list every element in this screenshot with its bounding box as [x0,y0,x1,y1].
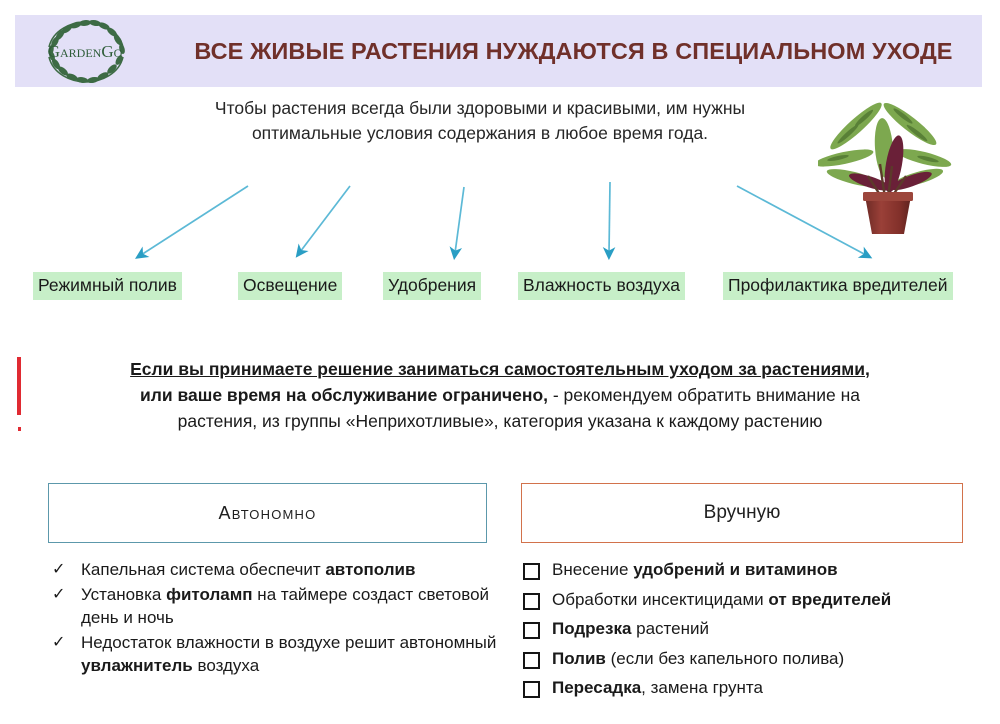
list-item-text: Установка фитоламп на таймере создаст св… [81,583,498,630]
quote-line-2-bold: или ваше время на обслуживание ограничен… [140,385,548,405]
list-item-text: Внесение удобрений и витаминов [552,558,981,582]
care-label-watering[interactable]: Режимный полив [33,272,182,300]
text-post: (если без капельного полива) [606,649,844,668]
arrow-1 [141,186,248,255]
text-bold: автополив [325,560,415,579]
manual-box[interactable]: Вручную [521,483,963,543]
text-post: воздуха [193,656,259,675]
text-pre: Капельная система обеспечит [81,560,325,579]
list-item-text: Недостаток влажности в воздухе решит авт… [81,631,498,678]
arrow-4 [609,182,610,253]
list-item[interactable]: ✓ Недостаток влажности в воздухе решит а… [48,631,498,678]
arrow-2 [300,186,350,252]
care-label-row: Режимный полив Освещение Удобрения Влажн… [33,272,983,298]
care-label-lighting[interactable]: Освещение [238,272,342,300]
care-label-humidity[interactable]: Влажность воздуха [518,272,685,300]
plant-photo [818,86,958,236]
list-item[interactable]: Полив (если без капельного полива) [521,647,981,676]
page-title: ВСЕ ЖИВЫЕ РАСТЕНИЯ НУЖДАЮТСЯ В СПЕЦИАЛЬН… [165,15,982,87]
care-label-pests[interactable]: Профилактика вредителей [723,272,953,300]
checkbox-square-icon[interactable] [521,647,552,676]
quote-block: Если вы принимаете решение заниматься са… [30,356,970,434]
list-item-text: Обработки инсектицидами от вредителей [552,588,981,612]
text-bold: удобрений и витаминов [633,560,837,579]
checkbox-square-icon[interactable] [521,588,552,617]
checkmark-icon: ✓ [48,583,81,607]
checkmark-icon: ✓ [48,558,81,582]
text-post: , замена грунта [641,678,763,697]
text-bold: увлажнитель [81,656,193,675]
quote-accent-bar [17,357,21,415]
care-label-fertilizer[interactable]: Удобрения [383,272,481,300]
quote-accent-dot [18,427,21,431]
text-post: растений [631,619,709,638]
text-pre: Недостаток влажности в воздухе решит авт… [81,633,496,652]
list-item[interactable]: ✓ Установка фитоламп на таймере создаст … [48,583,498,630]
list-item[interactable]: Обработки инсектицидами от вредителей [521,588,981,617]
text-bold: Пересадка [552,678,641,697]
text-bold: Подрезка [552,619,631,638]
text-pre: Обработки инсектицидами [552,590,768,609]
list-item-text: Подрезка растений [552,617,981,641]
list-item[interactable]: Подрезка растений [521,617,981,646]
intro-line-2: оптимальные условия содержания в любое в… [170,121,790,146]
checkbox-square-icon[interactable] [521,617,552,646]
arrow-3 [455,187,464,253]
checkbox-square-icon[interactable] [521,676,552,705]
text-bold: фитоламп [166,585,253,604]
list-item-text: Пересадка, замена грунта [552,676,981,700]
list-item-text: Капельная система обеспечит автополив [81,558,498,582]
text-pre: Установка [81,585,166,604]
quote-line-1: Если вы принимаете решение заниматься са… [130,359,870,379]
text-bold: Полив [552,649,606,668]
autonomous-list: ✓ Капельная система обеспечит автополив … [48,558,498,679]
intro-text: Чтобы растения всегда были здоровыми и к… [170,96,790,146]
laurel-wreath-icon: GardenGo [23,17,148,87]
manual-list: Внесение удобрений и витаминов Обработки… [521,558,981,706]
autonomous-box[interactable]: Автономно [48,483,487,543]
gardengo-logo: GardenGo [23,17,148,87]
text-bold: от вредителей [768,590,891,609]
list-item[interactable]: Внесение удобрений и витаминов [521,558,981,587]
autonomous-title: Автономно [219,503,317,524]
header-band: GardenGo ВСЕ ЖИВЫЕ РАСТЕНИЯ НУЖДАЮТСЯ В … [15,15,982,87]
text-pre: Внесение [552,560,633,579]
list-item[interactable]: Пересадка, замена грунта [521,676,981,705]
list-item-text: Полив (если без капельного полива) [552,647,981,671]
manual-title: Вручную [704,502,781,524]
intro-line-1: Чтобы растения всегда были здоровыми и к… [170,96,790,121]
logo-text: GardenGo [48,42,123,61]
checkbox-square-icon[interactable] [521,558,552,587]
checkmark-icon: ✓ [48,631,81,655]
list-item[interactable]: ✓ Капельная система обеспечит автополив [48,558,498,582]
quote-line-2-rest: - рекомендуем обратить внимание на [548,385,860,405]
quote-line-3: растения, из группы «Неприхотливые», кат… [178,411,823,431]
